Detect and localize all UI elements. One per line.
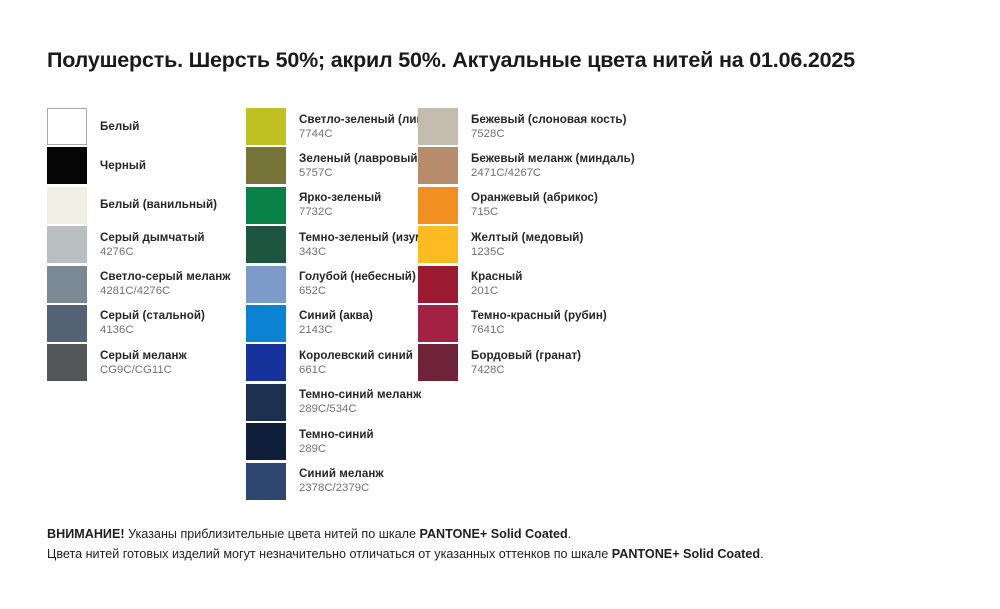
swatch-labels: Черный [100, 147, 146, 184]
swatch-labels: Темно-синий меланж289C/534C [299, 384, 421, 421]
swatch-name: Серый меланж [100, 349, 187, 363]
swatch-name: Ярко-зеленый [299, 191, 381, 205]
pantone-label-1: PANTONE+ Solid Coated [419, 527, 567, 541]
disclaimer: ВНИМАНИЕ! Указаны приблизительные цвета … [47, 524, 764, 564]
swatch-labels: Оранжевый (абрикос)715C [471, 187, 598, 224]
swatch-labels: Серый (стальной)4136C [100, 305, 205, 342]
swatch-pantone-code: 2143C [299, 323, 373, 337]
swatch-name: Светло-серый меланж [100, 270, 231, 284]
swatch-labels: Темно-красный (рубин)7641C [471, 305, 607, 342]
swatch-pantone-code: 289C/534C [299, 402, 421, 416]
swatch-labels: Белый (ванильный) [100, 187, 217, 224]
swatch-pantone-code: 2471C/4267C [471, 166, 635, 180]
color-swatch [246, 187, 286, 224]
disclaimer-line-1: ВНИМАНИЕ! Указаны приблизительные цвета … [47, 524, 764, 544]
color-swatch [246, 305, 286, 342]
swatch-name: Серый дымчатый [100, 231, 205, 245]
color-swatch [246, 423, 286, 460]
swatch-pantone-code: 7744C [299, 127, 434, 141]
swatch-labels: Голубой (небесный)652C [299, 266, 416, 303]
disclaimer-tail-2: . [760, 547, 764, 561]
color-swatch [47, 226, 87, 263]
swatch-labels: Темно-синий289C [299, 423, 374, 460]
color-swatch [418, 266, 458, 303]
color-swatch [246, 384, 286, 421]
color-swatch [47, 344, 87, 381]
attention-label: ВНИМАНИЕ! [47, 527, 125, 541]
swatch-name: Бежевый меланж (миндаль) [471, 152, 635, 166]
color-swatch [418, 344, 458, 381]
swatch-labels: Синий меланж2378C/2379C [299, 463, 384, 500]
color-swatch [246, 226, 286, 263]
color-swatch [246, 266, 286, 303]
swatch-labels: Зеленый (лавровый)5757C [299, 147, 422, 184]
disclaimer-text-1: Указаны приблизительные цвета нитей по ш… [125, 527, 420, 541]
swatch-name: Белый [100, 120, 139, 134]
color-swatch [418, 305, 458, 342]
swatch-pantone-code: 661C [299, 363, 413, 377]
color-swatch [418, 226, 458, 263]
color-swatch [47, 266, 87, 303]
swatch-pantone-code: 4281C/4276C [100, 284, 231, 298]
swatch-name: Синий меланж [299, 467, 384, 481]
swatch-pantone-code: 7641C [471, 323, 607, 337]
color-swatch [47, 305, 87, 342]
swatch-pantone-code: 2378C/2379C [299, 481, 384, 495]
swatch-name: Бежевый (слоновая кость) [471, 113, 627, 127]
color-swatch [47, 187, 87, 224]
disclaimer-text-2: Цвета нитей готовых изделий могут незнач… [47, 547, 612, 561]
swatch-name: Светло-зеленый (липа) [299, 113, 434, 127]
swatch-labels: Светло-серый меланж4281C/4276C [100, 266, 231, 303]
swatch-pantone-code: 7428C [471, 363, 581, 377]
swatch-name: Зеленый (лавровый) [299, 152, 422, 166]
swatch-labels: Бежевый меланж (миндаль)2471C/4267C [471, 147, 635, 184]
disclaimer-line-2: Цвета нитей готовых изделий могут незнач… [47, 544, 764, 564]
swatch-labels: Красный201C [471, 266, 522, 303]
swatch-name: Оранжевый (абрикос) [471, 191, 598, 205]
swatch-name: Синий (аква) [299, 309, 373, 323]
swatch-pantone-code: 7732C [299, 205, 381, 219]
color-card-page: Полушерсть. Шерсть 50%; акрил 50%. Актуа… [0, 0, 1000, 609]
swatch-labels: Белый [100, 108, 139, 145]
swatch-pantone-code: 1235C [471, 245, 583, 259]
swatch-labels: Бордовый (гранат)7428C [471, 344, 581, 381]
color-swatch [246, 108, 286, 145]
color-swatch [418, 147, 458, 184]
swatch-labels: Королевский синий661C [299, 344, 413, 381]
swatch-pantone-code: CG9C/CG11C [100, 363, 187, 377]
color-swatch [246, 463, 286, 500]
color-swatch [246, 147, 286, 184]
swatch-pantone-code: 715C [471, 205, 598, 219]
swatch-labels: Ярко-зеленый7732C [299, 187, 381, 224]
swatch-labels: Желтый (медовый)1235C [471, 226, 583, 263]
swatch-labels: Серый дымчатый4276C [100, 226, 205, 263]
page-title: Полушерсть. Шерсть 50%; акрил 50%. Актуа… [47, 48, 855, 73]
swatch-name: Темно-синий [299, 428, 374, 442]
color-swatch [47, 108, 87, 145]
swatch-labels: Бежевый (слоновая кость)7528C [471, 108, 627, 145]
swatch-name: Голубой (небесный) [299, 270, 416, 284]
swatch-name: Красный [471, 270, 522, 284]
swatch-pantone-code: 4276C [100, 245, 205, 259]
color-swatch [47, 147, 87, 184]
swatch-labels: Серый меланжCG9C/CG11C [100, 344, 187, 381]
swatch-name: Черный [100, 159, 146, 173]
swatch-pantone-code: 7528C [471, 127, 627, 141]
color-swatch [246, 344, 286, 381]
swatch-labels: Синий (аква)2143C [299, 305, 373, 342]
swatch-pantone-code: 5757C [299, 166, 422, 180]
swatch-pantone-code: 201C [471, 284, 522, 298]
swatch-name: Темно-красный (рубин) [471, 309, 607, 323]
swatch-pantone-code: 652C [299, 284, 416, 298]
swatch-name: Королевский синий [299, 349, 413, 363]
swatch-pantone-code: 4136C [100, 323, 205, 337]
swatch-name: Бордовый (гранат) [471, 349, 581, 363]
color-swatch [418, 108, 458, 145]
swatch-name: Белый (ванильный) [100, 198, 217, 212]
pantone-label-2: PANTONE+ Solid Coated [612, 547, 760, 561]
color-swatch [418, 187, 458, 224]
swatch-name: Желтый (медовый) [471, 231, 583, 245]
swatch-name: Серый (стальной) [100, 309, 205, 323]
swatch-pantone-code: 289C [299, 442, 374, 456]
swatch-labels: Светло-зеленый (липа)7744C [299, 108, 434, 145]
swatch-name: Темно-синий меланж [299, 388, 421, 402]
disclaimer-tail-1: . [568, 527, 572, 541]
